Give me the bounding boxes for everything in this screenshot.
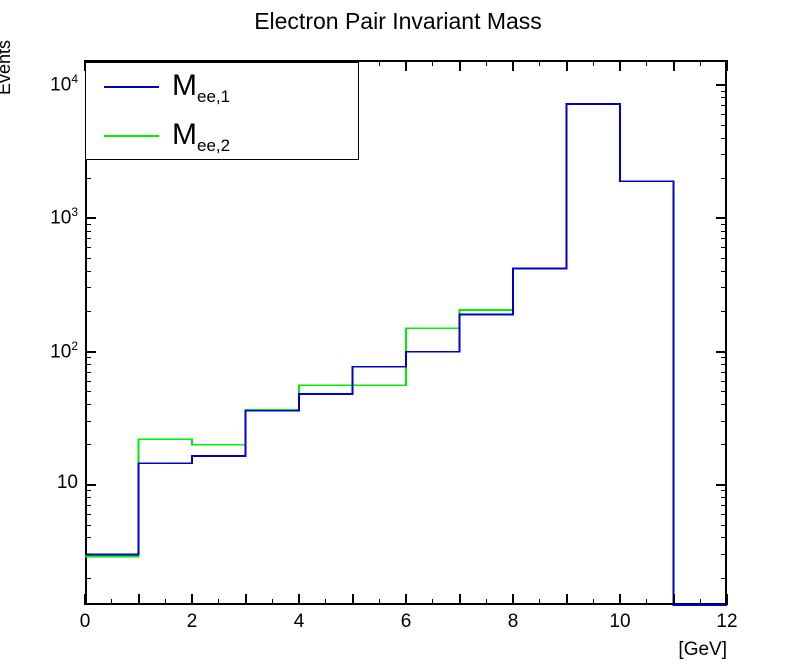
y-tick-minor-right bbox=[721, 554, 727, 555]
y-tick-minor-right bbox=[721, 105, 727, 106]
y-tick-minor bbox=[85, 287, 91, 288]
y-tick-minor-right bbox=[721, 578, 727, 579]
legend-label-mee1-base: M bbox=[172, 69, 197, 102]
y-tick-minor-right bbox=[721, 238, 727, 239]
y-tick-minor bbox=[85, 514, 91, 515]
y-tick-minor-right bbox=[721, 381, 727, 382]
x-tick-major bbox=[352, 594, 354, 605]
y-tick-minor-right bbox=[721, 114, 727, 115]
x-tick-minor-top bbox=[486, 60, 487, 66]
x-axis-title: [GeV] bbox=[678, 639, 727, 661]
y-tick-label-2: 103 bbox=[0, 206, 78, 227]
y-tick-label-0: 10 bbox=[0, 473, 78, 492]
y-tick-exponent: 2 bbox=[71, 339, 78, 353]
y-tick-major bbox=[85, 217, 96, 219]
x-tick-major bbox=[512, 594, 514, 605]
y-tick-minor-right bbox=[721, 372, 727, 373]
y-tick-minor-right bbox=[721, 224, 727, 225]
legend-swatch-mee1 bbox=[104, 86, 159, 88]
x-tick-major-top bbox=[405, 60, 407, 71]
x-tick-minor bbox=[432, 599, 433, 605]
y-tick-minor-right bbox=[721, 490, 727, 491]
root-canvas: Electron Pair Invariant Mass Events 1010… bbox=[0, 0, 796, 672]
x-tick-label-0: 0 bbox=[55, 612, 115, 631]
y-tick-minor-right bbox=[721, 247, 727, 248]
x-tick-major bbox=[673, 594, 675, 605]
x-tick-minor-top bbox=[593, 60, 594, 66]
x-tick-minor bbox=[272, 599, 273, 605]
x-tick-major bbox=[191, 594, 193, 605]
y-tick-minor bbox=[85, 537, 91, 538]
y-tick-minor-right bbox=[721, 537, 727, 538]
x-tick-minor-top bbox=[646, 60, 647, 66]
y-tick-minor-right bbox=[721, 525, 727, 526]
x-tick-label-5: 10 bbox=[590, 612, 650, 631]
y-tick-minor bbox=[85, 231, 91, 232]
y-tick-major bbox=[85, 351, 96, 353]
y-tick-major bbox=[85, 484, 96, 486]
y-tick-minor-right bbox=[721, 271, 727, 272]
x-tick-label-3: 6 bbox=[376, 612, 436, 631]
y-tick-label-1: 102 bbox=[0, 340, 78, 361]
hist-curve-mee1 bbox=[85, 104, 727, 605]
y-tick-mantissa: 10 bbox=[57, 472, 78, 493]
y-tick-minor bbox=[85, 381, 91, 382]
x-tick-minor bbox=[646, 599, 647, 605]
legend-swatch-mee2 bbox=[104, 135, 159, 137]
y-tick-mantissa: 10 bbox=[50, 341, 71, 362]
y-tick-mantissa: 10 bbox=[50, 74, 71, 95]
y-tick-label-3: 104 bbox=[0, 73, 78, 94]
y-tick-minor-right bbox=[721, 231, 727, 232]
x-tick-label-6: 12 bbox=[697, 612, 757, 631]
legend-label-mee1-sub: ee,1 bbox=[197, 87, 230, 106]
x-tick-label-2: 4 bbox=[269, 612, 329, 631]
y-tick-minor bbox=[85, 238, 91, 239]
y-tick-minor-right bbox=[721, 178, 727, 179]
legend-label-mee2: Mee,2 bbox=[172, 110, 230, 171]
x-tick-major bbox=[298, 594, 300, 605]
x-tick-minor bbox=[539, 599, 540, 605]
legend[interactable]: Mee,1 Mee,2 bbox=[85, 62, 359, 160]
y-tick-minor-right bbox=[721, 138, 727, 139]
y-tick-minor bbox=[85, 444, 91, 445]
x-tick-major-top bbox=[459, 60, 461, 71]
legend-label-mee2-sub: ee,2 bbox=[197, 136, 230, 155]
y-tick-minor-right bbox=[721, 444, 727, 445]
y-tick-minor-right bbox=[721, 97, 727, 98]
y-tick-minor-right bbox=[721, 125, 727, 126]
x-tick-minor bbox=[165, 599, 166, 605]
y-tick-minor-right bbox=[721, 421, 727, 422]
y-tick-minor-right bbox=[721, 497, 727, 498]
y-tick-minor-right bbox=[721, 287, 727, 288]
y-tick-exponent: 4 bbox=[71, 72, 78, 86]
y-tick-major-right bbox=[716, 217, 727, 219]
x-tick-minor-top bbox=[539, 60, 540, 66]
y-tick-minor bbox=[85, 391, 91, 392]
y-tick-minor bbox=[85, 554, 91, 555]
y-tick-minor-right bbox=[721, 311, 727, 312]
y-tick-minor bbox=[85, 311, 91, 312]
y-tick-minor bbox=[85, 505, 91, 506]
y-tick-major-right bbox=[716, 351, 727, 353]
x-tick-major-top bbox=[673, 60, 675, 71]
x-tick-minor bbox=[486, 599, 487, 605]
x-tick-major-top bbox=[566, 60, 568, 71]
y-tick-minor bbox=[85, 258, 91, 259]
x-tick-major bbox=[405, 594, 407, 605]
legend-entry-1[interactable]: Mee,1 bbox=[86, 63, 360, 112]
x-tick-minor bbox=[325, 599, 326, 605]
x-tick-major bbox=[459, 594, 461, 605]
y-tick-minor bbox=[85, 224, 91, 225]
y-tick-mantissa: 10 bbox=[50, 208, 71, 229]
y-tick-minor bbox=[85, 357, 91, 358]
x-tick-minor bbox=[593, 599, 594, 605]
y-tick-exponent: 3 bbox=[71, 205, 78, 219]
y-tick-major-right bbox=[716, 84, 727, 86]
x-tick-major-top bbox=[512, 60, 514, 71]
y-tick-minor-right bbox=[721, 364, 727, 365]
y-tick-minor bbox=[85, 404, 91, 405]
x-tick-minor bbox=[111, 599, 112, 605]
y-tick-minor bbox=[85, 178, 91, 179]
y-tick-minor bbox=[85, 271, 91, 272]
y-tick-minor-right bbox=[721, 258, 727, 259]
x-tick-label-4: 8 bbox=[483, 612, 543, 631]
y-tick-minor-right bbox=[721, 154, 727, 155]
y-tick-minor bbox=[85, 372, 91, 373]
x-tick-minor bbox=[218, 599, 219, 605]
histogram-curves bbox=[85, 104, 727, 605]
x-tick-major-top bbox=[619, 60, 621, 71]
x-tick-major-top bbox=[726, 60, 728, 71]
x-tick-major bbox=[726, 594, 728, 605]
y-tick-minor bbox=[85, 490, 91, 491]
x-tick-major bbox=[245, 594, 247, 605]
y-tick-minor bbox=[85, 578, 91, 579]
y-tick-minor-right bbox=[721, 391, 727, 392]
x-tick-major bbox=[566, 594, 568, 605]
y-tick-minor bbox=[85, 247, 91, 248]
y-tick-major-right bbox=[716, 484, 727, 486]
legend-entry-2[interactable]: Mee,2 bbox=[86, 112, 360, 161]
y-tick-minor-right bbox=[721, 514, 727, 515]
x-tick-label-1: 2 bbox=[162, 612, 222, 631]
x-tick-minor bbox=[700, 599, 701, 605]
y-tick-minor-right bbox=[721, 505, 727, 506]
y-tick-minor-right bbox=[721, 91, 727, 92]
y-tick-minor bbox=[85, 497, 91, 498]
y-tick-minor bbox=[85, 525, 91, 526]
legend-label-mee2-base: M bbox=[172, 118, 197, 151]
x-tick-minor bbox=[379, 599, 380, 605]
x-tick-major bbox=[619, 594, 621, 605]
x-tick-minor-top bbox=[379, 60, 380, 66]
x-tick-major bbox=[84, 594, 86, 605]
x-tick-major bbox=[138, 594, 140, 605]
y-tick-minor-right bbox=[721, 357, 727, 358]
y-tick-minor bbox=[85, 364, 91, 365]
y-tick-minor bbox=[85, 421, 91, 422]
x-tick-minor-top bbox=[700, 60, 701, 66]
x-tick-minor-top bbox=[432, 60, 433, 66]
y-tick-minor-right bbox=[721, 404, 727, 405]
